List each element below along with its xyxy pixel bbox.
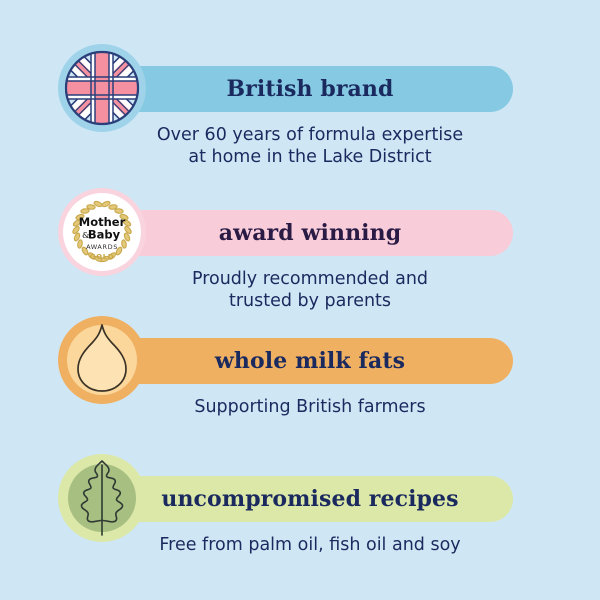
- award-badge-disc: Mother & Baby AWARDS GOLD: [63, 193, 141, 271]
- feature-row-award-winning: award winning: [0, 188, 600, 318]
- feature-row-whole-milk-fats: whole milk fats Supporting British farme…: [0, 316, 600, 441]
- subtitle-line: Free from palm oil, fish oil and soy: [100, 534, 520, 556]
- feature-heading-uncompromised-recipes: uncompromised recipes: [120, 476, 500, 522]
- feature-row-uncompromised-recipes: uncompromised recipes Free from palm oil…: [0, 454, 600, 579]
- union-jack-flag-icon: [62, 48, 142, 128]
- subtitle-line: Supporting British farmers: [100, 396, 520, 418]
- feature-heading-british-brand: British brand: [120, 66, 500, 112]
- feature-row-british-brand: British brand: [0, 44, 600, 174]
- feature-heading-award-winning: award winning: [120, 210, 500, 256]
- mother-and-baby-gold-award-badge-icon: Mother & Baby AWARDS GOLD: [63, 193, 141, 271]
- milk-droplet-disc: [67, 325, 137, 395]
- award-badge-line3: AWARDS: [86, 243, 118, 251]
- leaf-disc: [68, 464, 136, 532]
- icon-badge-uncompromised-recipes: [58, 454, 146, 542]
- subtitle-line: at home in the Lake District: [100, 146, 520, 168]
- leaf-icon: [71, 457, 133, 539]
- icon-badge-whole-milk-fats: [58, 316, 146, 404]
- feature-infographic: British brand: [0, 0, 600, 600]
- icon-badge-british-brand: [58, 44, 146, 132]
- feature-heading-whole-milk-fats: whole milk fats: [120, 338, 500, 384]
- feature-subtitle-british-brand: Over 60 years of formula expertise at ho…: [100, 124, 520, 168]
- icon-badge-award-winning: Mother & Baby AWARDS GOLD: [58, 188, 146, 276]
- subtitle-line: Proudly recommended and: [100, 268, 520, 290]
- feature-subtitle-award-winning: Proudly recommended and trusted by paren…: [100, 268, 520, 312]
- feature-subtitle-uncompromised-recipes: Free from palm oil, fish oil and soy: [100, 534, 520, 556]
- milk-droplet-icon: [70, 322, 134, 398]
- feature-subtitle-whole-milk-fats: Supporting British farmers: [100, 396, 520, 418]
- award-badge-line2: Baby: [88, 228, 121, 242]
- subtitle-line: Over 60 years of formula expertise: [100, 124, 520, 146]
- subtitle-line: trusted by parents: [100, 290, 520, 312]
- award-badge-line4: GOLD: [90, 253, 114, 261]
